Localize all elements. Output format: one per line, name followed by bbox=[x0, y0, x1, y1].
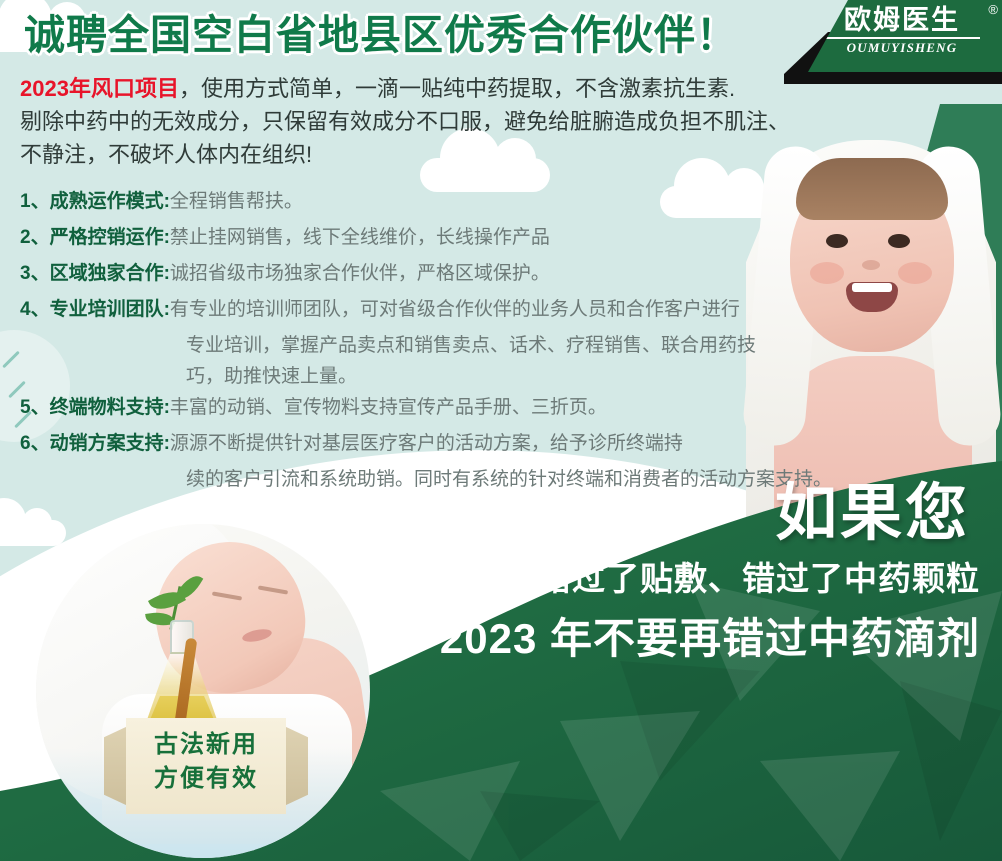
list-item: 3、区域独家合作: 诚招省级市场独家合作伙伴，严格区域保护。 bbox=[20, 258, 880, 289]
baby-eye-right bbox=[888, 234, 910, 248]
list-item-body: 丰富的动销、宣传物料支持宣传产品手册、三折页。 bbox=[170, 392, 607, 423]
list-item-continuation: 专业培训，掌握产品卖点和销售卖点、话术、疗程销售、联合用药技 巧，助推快速上量。 bbox=[20, 330, 880, 392]
list-item-label: 1、成熟运作模式: bbox=[20, 186, 170, 217]
list-item-body: 全程销售帮扶。 bbox=[170, 186, 303, 217]
list-item-label: 4、专业培训团队: bbox=[20, 294, 170, 325]
box-text-line2: 方便有效 bbox=[104, 762, 308, 796]
list-item-body: 有专业的培训师团队，可对省级合作伙伴的业务人员和合作客户进行 bbox=[170, 294, 740, 325]
logo-pinyin: OUMUYISHENG bbox=[812, 40, 992, 56]
intro-rest: ，使用方式简单，一滴一贴纯中药提取，不含激素抗生素. bbox=[179, 76, 735, 101]
registered-trademark-icon: ® bbox=[988, 2, 998, 17]
list-item-body: 诚招省级市场独家合作伙伴，严格区域保护。 bbox=[170, 258, 550, 289]
product-box: 古法新用 方便有效 bbox=[104, 718, 308, 814]
intro-highlight: 2023年风口项目 bbox=[20, 76, 179, 101]
list-item: 5、终端物料支持: 丰富的动销、宣传物料支持宣传产品手册、三折页。 bbox=[20, 392, 880, 423]
intro-line3: 不静注，不破坏人体内在组织! bbox=[20, 142, 312, 167]
page-title: 诚聘全国空白省地县区优秀合作伙伴！ bbox=[24, 10, 738, 60]
list-item-label: 2、严格控销运作: bbox=[20, 222, 170, 253]
benefits-list: 1、成熟运作模式: 全程销售帮扶。 2、严格控销运作: 禁止挂网销售，线下全线维… bbox=[20, 186, 880, 495]
baby-cheek-right bbox=[898, 262, 932, 284]
list-item-label: 3、区域独家合作: bbox=[20, 258, 170, 289]
intro-paragraph: 2023年风口项目，使用方式简单，一滴一贴纯中药提取，不含激素抗生素. 剔除中药… bbox=[20, 72, 820, 171]
list-item: 2、严格控销运作: 禁止挂网销售，线下全线维价，长线操作产品 bbox=[20, 222, 880, 253]
promotional-poster: 诚聘全国空白省地县区优秀合作伙伴！ 欧姆医生 OUMUYISHENG ® 202… bbox=[0, 0, 1002, 861]
list-item-label: 6、动销方案支持: bbox=[20, 428, 170, 459]
list-item: 1、成熟运作模式: 全程销售帮扶。 bbox=[20, 186, 880, 217]
list-item-body: 禁止挂网销售，线下全线维价，长线操作产品 bbox=[170, 222, 550, 253]
list-item-body: 源源不断提供针对基层医疗客户的活动方案，给予诊所终端持 bbox=[170, 428, 683, 459]
herbal-flask-icon bbox=[140, 620, 224, 734]
box-text-line1: 古法新用 bbox=[104, 728, 308, 762]
dash-mark bbox=[2, 351, 20, 369]
list-item: 4、专业培训团队: 有专业的培训师团队，可对省级合作伙伴的业务人员和合作客户进行… bbox=[20, 294, 880, 392]
logo-divider bbox=[824, 37, 980, 39]
list-item-label: 5、终端物料支持: bbox=[20, 392, 170, 423]
intro-line2: 剔除中药中的无效成分，只保留有效成分不口服，避免给脏腑造成负担不肌注、 bbox=[20, 109, 790, 134]
box-text: 古法新用 方便有效 bbox=[104, 728, 308, 796]
